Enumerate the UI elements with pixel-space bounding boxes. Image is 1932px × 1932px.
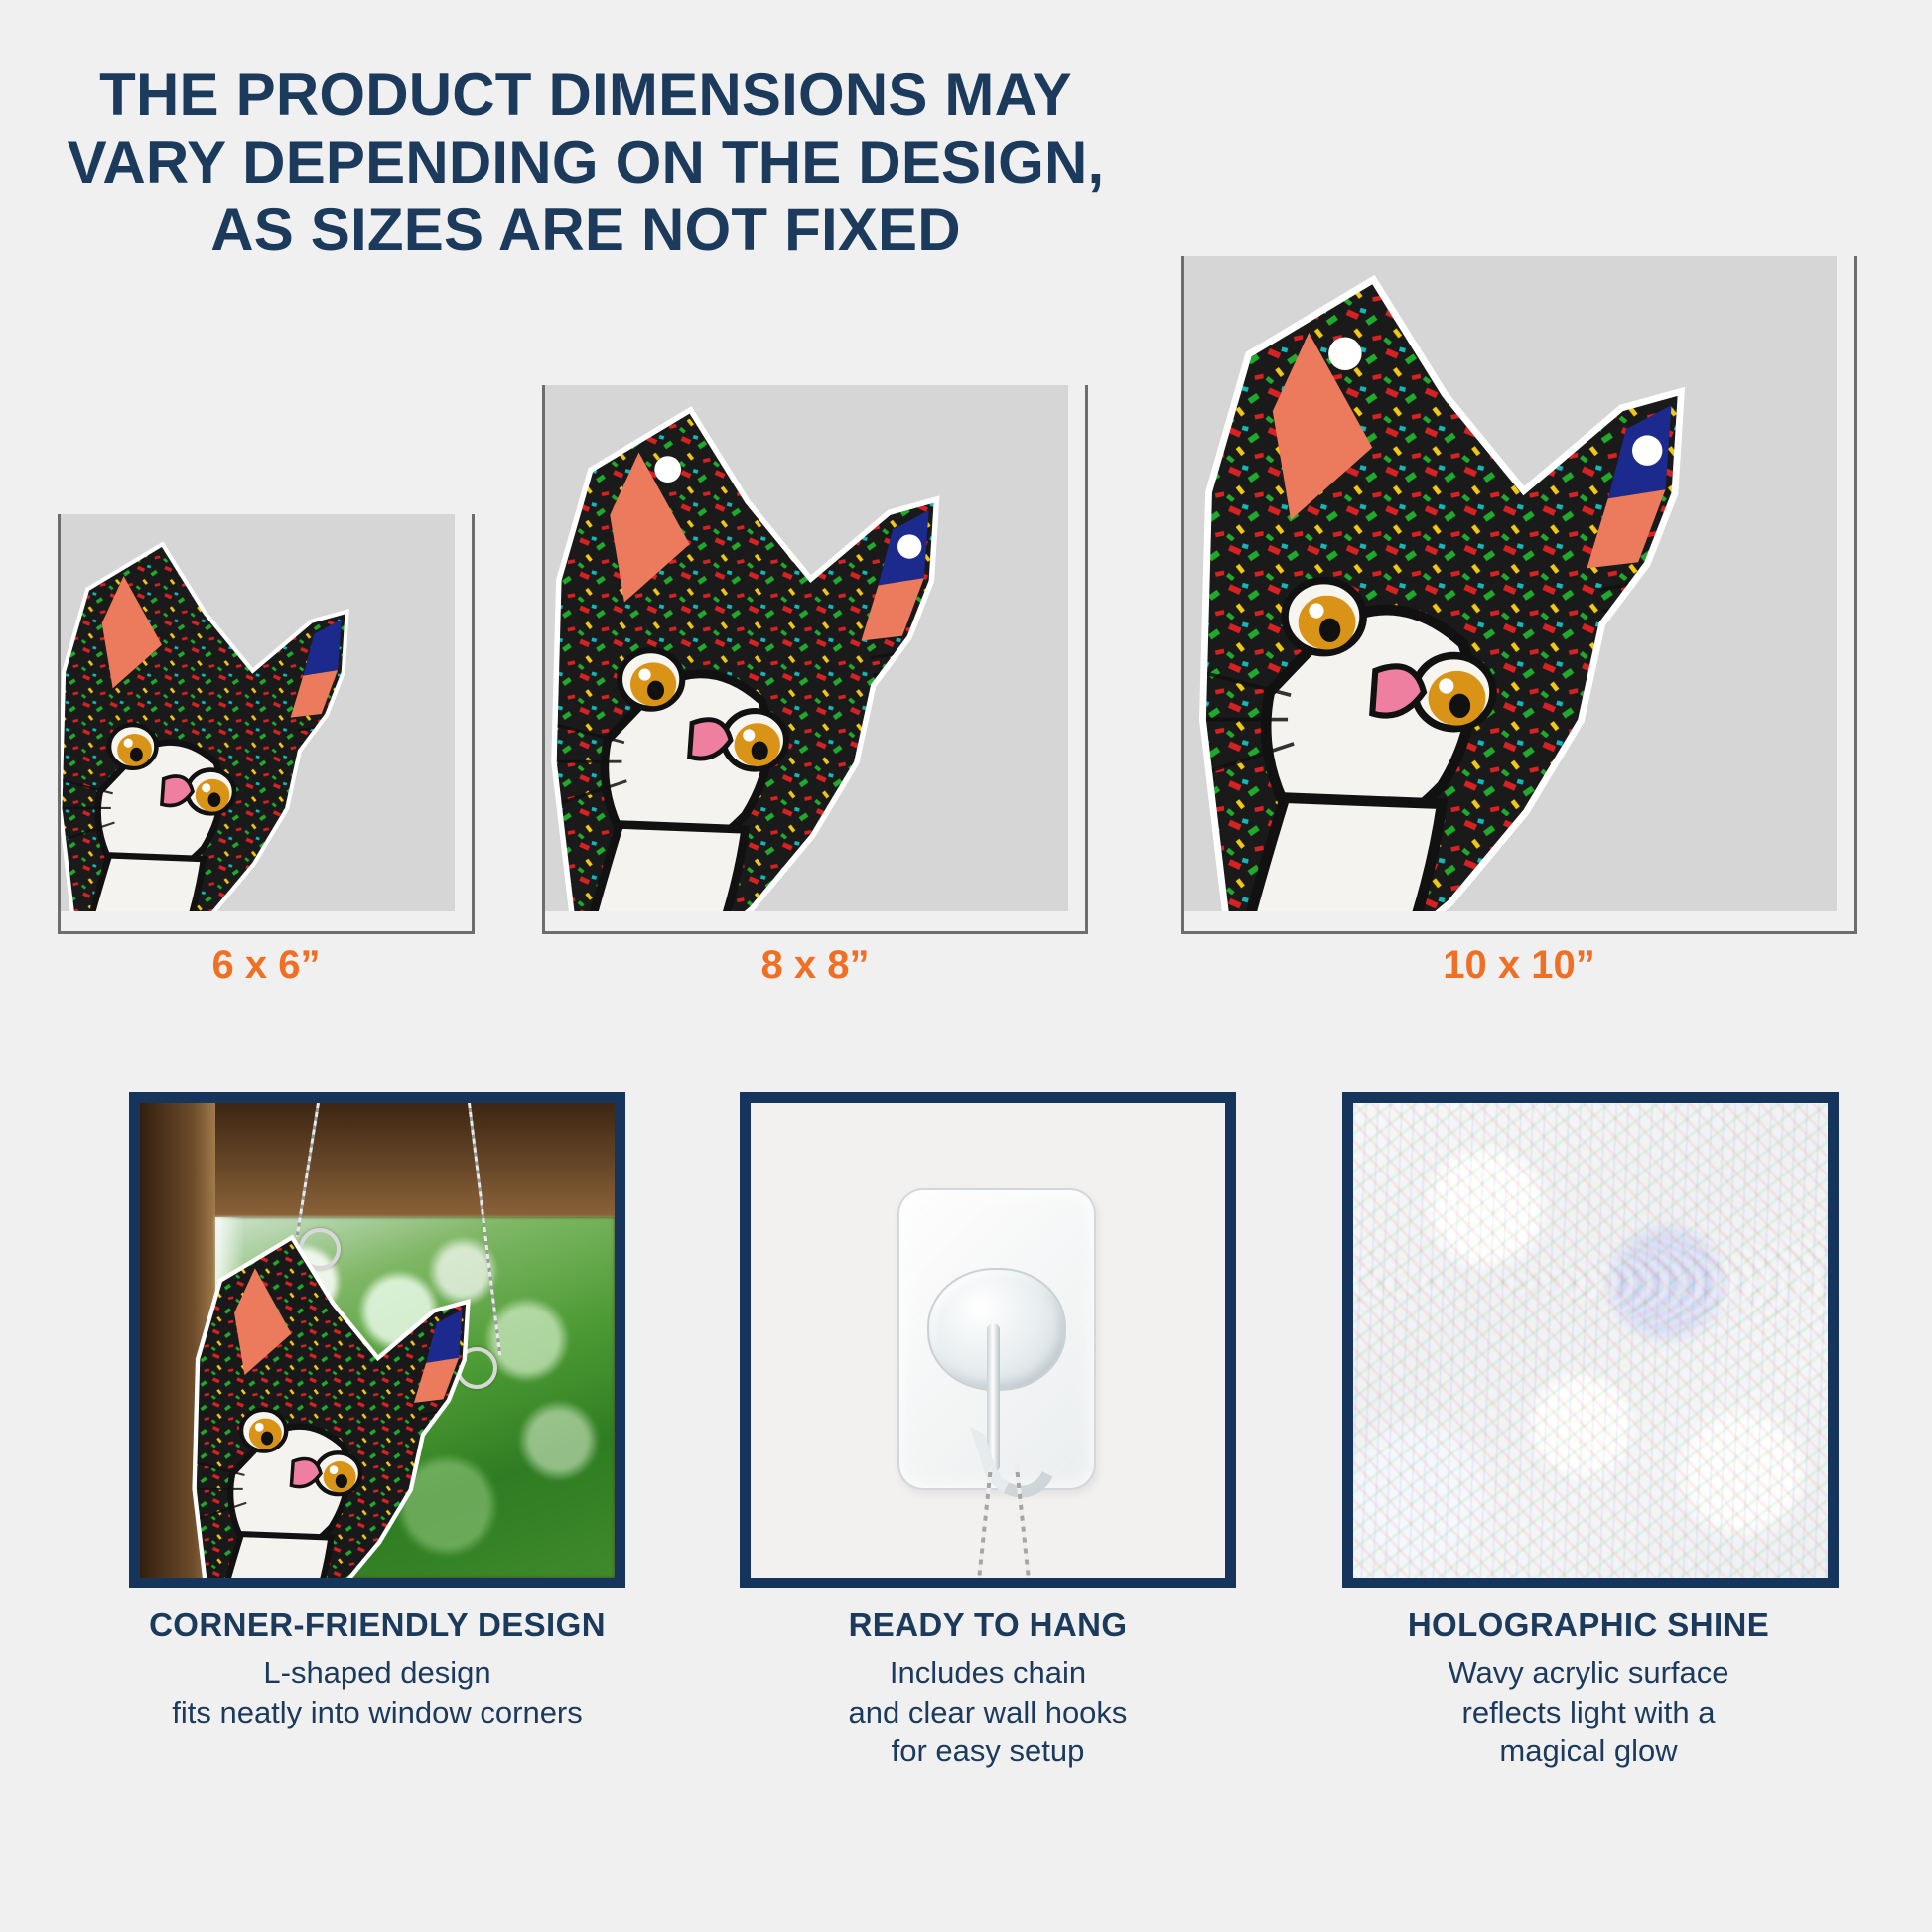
size-swatch-8x8 [542,385,1068,911]
feature-title-1: CORNER-FRIENDLY DESIGN [20,1606,735,1644]
size-label-6x6: 6 x 6” [58,943,475,988]
size-swatch-6x6 [58,514,455,911]
feature-body-3-line-1: Wavy acrylic surface [1231,1653,1932,1693]
feature-title-3: HOLOGRAPHIC SHINE [1231,1606,1932,1644]
measure-line-horizontal-10x10 [1181,931,1857,934]
cat-suncatcher-art-6x6 [58,536,443,911]
feature-caption-3: HOLOGRAPHIC SHINE Wavy acrylic surface r… [1231,1606,1932,1771]
cat-suncatcher-art-in-window [162,1230,559,1578]
size-swatch-10x10 [1181,256,1837,911]
size-comparison-section: 6 x 6” [0,0,1932,1003]
measure-line-vertical-right-6x6 [472,514,475,931]
measure-line-vertical-8x8 [542,385,545,931]
feature-body-1-line-1: L-shaped design [20,1653,735,1693]
measure-line-horizontal-6x6 [58,931,475,934]
size-label-10x10: 10 x 10” [1181,943,1857,988]
feature-caption-1: CORNER-FRIENDLY DESIGN L-shaped design f… [20,1606,735,1731]
feature-body-3-line-2: reflects light with a [1231,1693,1932,1732]
feature-body-3-line-3: magical glow [1231,1731,1932,1771]
feature-body-3: Wavy acrylic surface reflects light with… [1231,1653,1932,1771]
measure-line-vertical-right-10x10 [1854,256,1857,931]
photo-holographic-texture[interactable] [1342,1092,1839,1588]
photo-wall-hook[interactable] [740,1092,1236,1588]
measure-line-horizontal-8x8 [542,931,1088,934]
size-label-8x8: 8 x 8” [542,943,1088,988]
feature-body-1: L-shaped design fits neatly into window … [20,1653,735,1731]
feature-body-1-line-2: fits neatly into window corners [20,1693,735,1732]
measure-line-vertical-right-8x8 [1085,385,1088,931]
measure-line-vertical-10x10 [1181,256,1184,931]
measure-line-vertical-6x6 [58,514,61,931]
photo-suncatcher-in-window[interactable] [129,1092,625,1588]
cat-suncatcher-art-8x8 [542,399,1064,911]
cat-suncatcher-art-10x10 [1181,266,1837,911]
holographic-wave-overlay [1353,1103,1828,1578]
